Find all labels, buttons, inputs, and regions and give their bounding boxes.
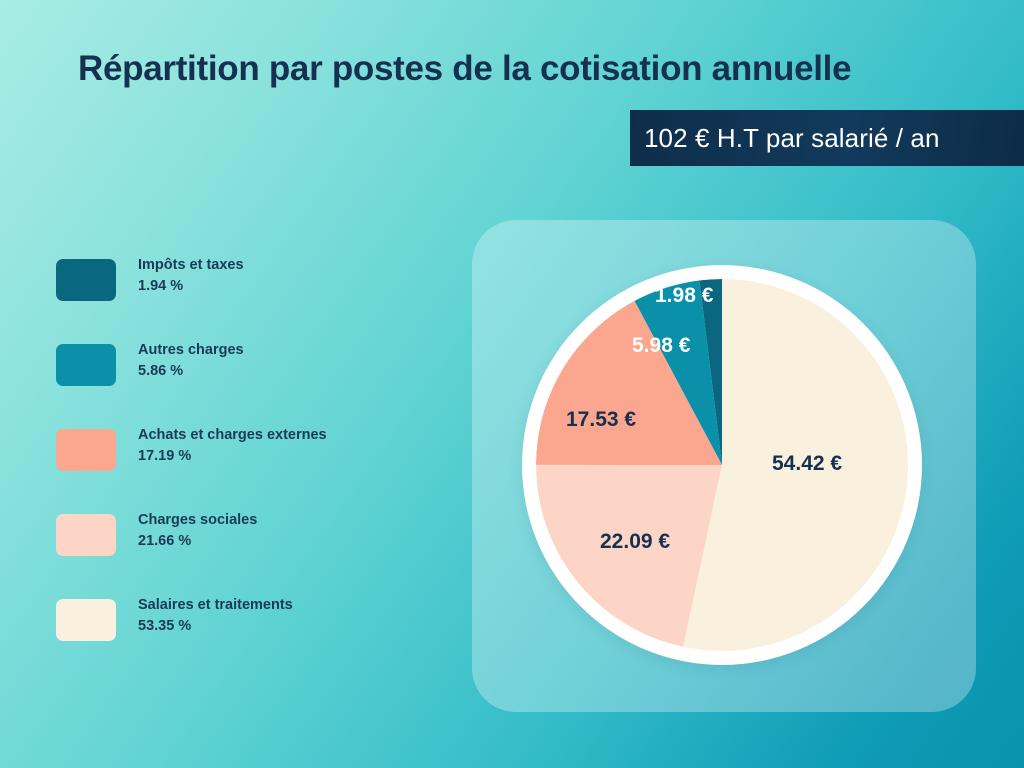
legend-label: Salaires et traitements — [138, 595, 293, 616]
pie-disc — [536, 279, 908, 651]
page-title: Répartition par postes de la cotisation … — [78, 50, 998, 89]
pie-slices — [536, 279, 908, 651]
pie-chart[interactable] — [522, 265, 922, 665]
infographic-canvas: Répartition par postes de la cotisation … — [0, 0, 1024, 768]
chart-legend: Impôts et taxes 1.94 % Autres charges 5.… — [56, 255, 446, 680]
legend-value: 5.86 % — [138, 361, 244, 382]
legend-swatch-icon — [56, 429, 116, 471]
legend-value: 1.94 % — [138, 276, 244, 297]
cost-banner-text: 102 € H.T par salarié / an — [630, 123, 940, 154]
legend-value: 17.19 % — [138, 446, 327, 467]
legend-value: 21.66 % — [138, 531, 257, 552]
legend-text-group: Charges sociales 21.66 % — [138, 510, 257, 552]
legend-label: Charges sociales — [138, 510, 257, 531]
legend-item-autres-charges[interactable]: Autres charges 5.86 % — [56, 340, 446, 425]
legend-swatch-icon — [56, 514, 116, 556]
legend-swatch-icon — [56, 599, 116, 641]
legend-text-group: Salaires et traitements 53.35 % — [138, 595, 293, 637]
cost-banner: 102 € H.T par salarié / an — [630, 110, 1024, 166]
legend-swatch-icon — [56, 259, 116, 301]
pie-data-label-charges: 22.09 € — [600, 530, 670, 554]
pie-data-label-autres: 5.98 € — [632, 334, 690, 358]
legend-text-group: Achats et charges externes 17.19 % — [138, 425, 327, 467]
legend-item-impots-et-taxes[interactable]: Impôts et taxes 1.94 % — [56, 255, 446, 340]
legend-item-achats-et-charges-externes[interactable]: Achats et charges externes 17.19 % — [56, 425, 446, 510]
legend-label: Impôts et taxes — [138, 255, 244, 276]
pie-data-label-salaires: 54.42 € — [772, 452, 842, 476]
legend-value: 53.35 % — [138, 616, 293, 637]
pie-data-label-impots: 1.98 € — [655, 284, 713, 308]
legend-label: Achats et charges externes — [138, 425, 327, 446]
legend-text-group: Impôts et taxes 1.94 % — [138, 255, 244, 297]
legend-item-salaires-et-traitements[interactable]: Salaires et traitements 53.35 % — [56, 595, 446, 680]
legend-text-group: Autres charges 5.86 % — [138, 340, 244, 382]
legend-label: Autres charges — [138, 340, 244, 361]
pie-data-label-achats: 17.53 € — [566, 408, 636, 432]
legend-item-charges-sociales[interactable]: Charges sociales 21.66 % — [56, 510, 446, 595]
legend-swatch-icon — [56, 344, 116, 386]
